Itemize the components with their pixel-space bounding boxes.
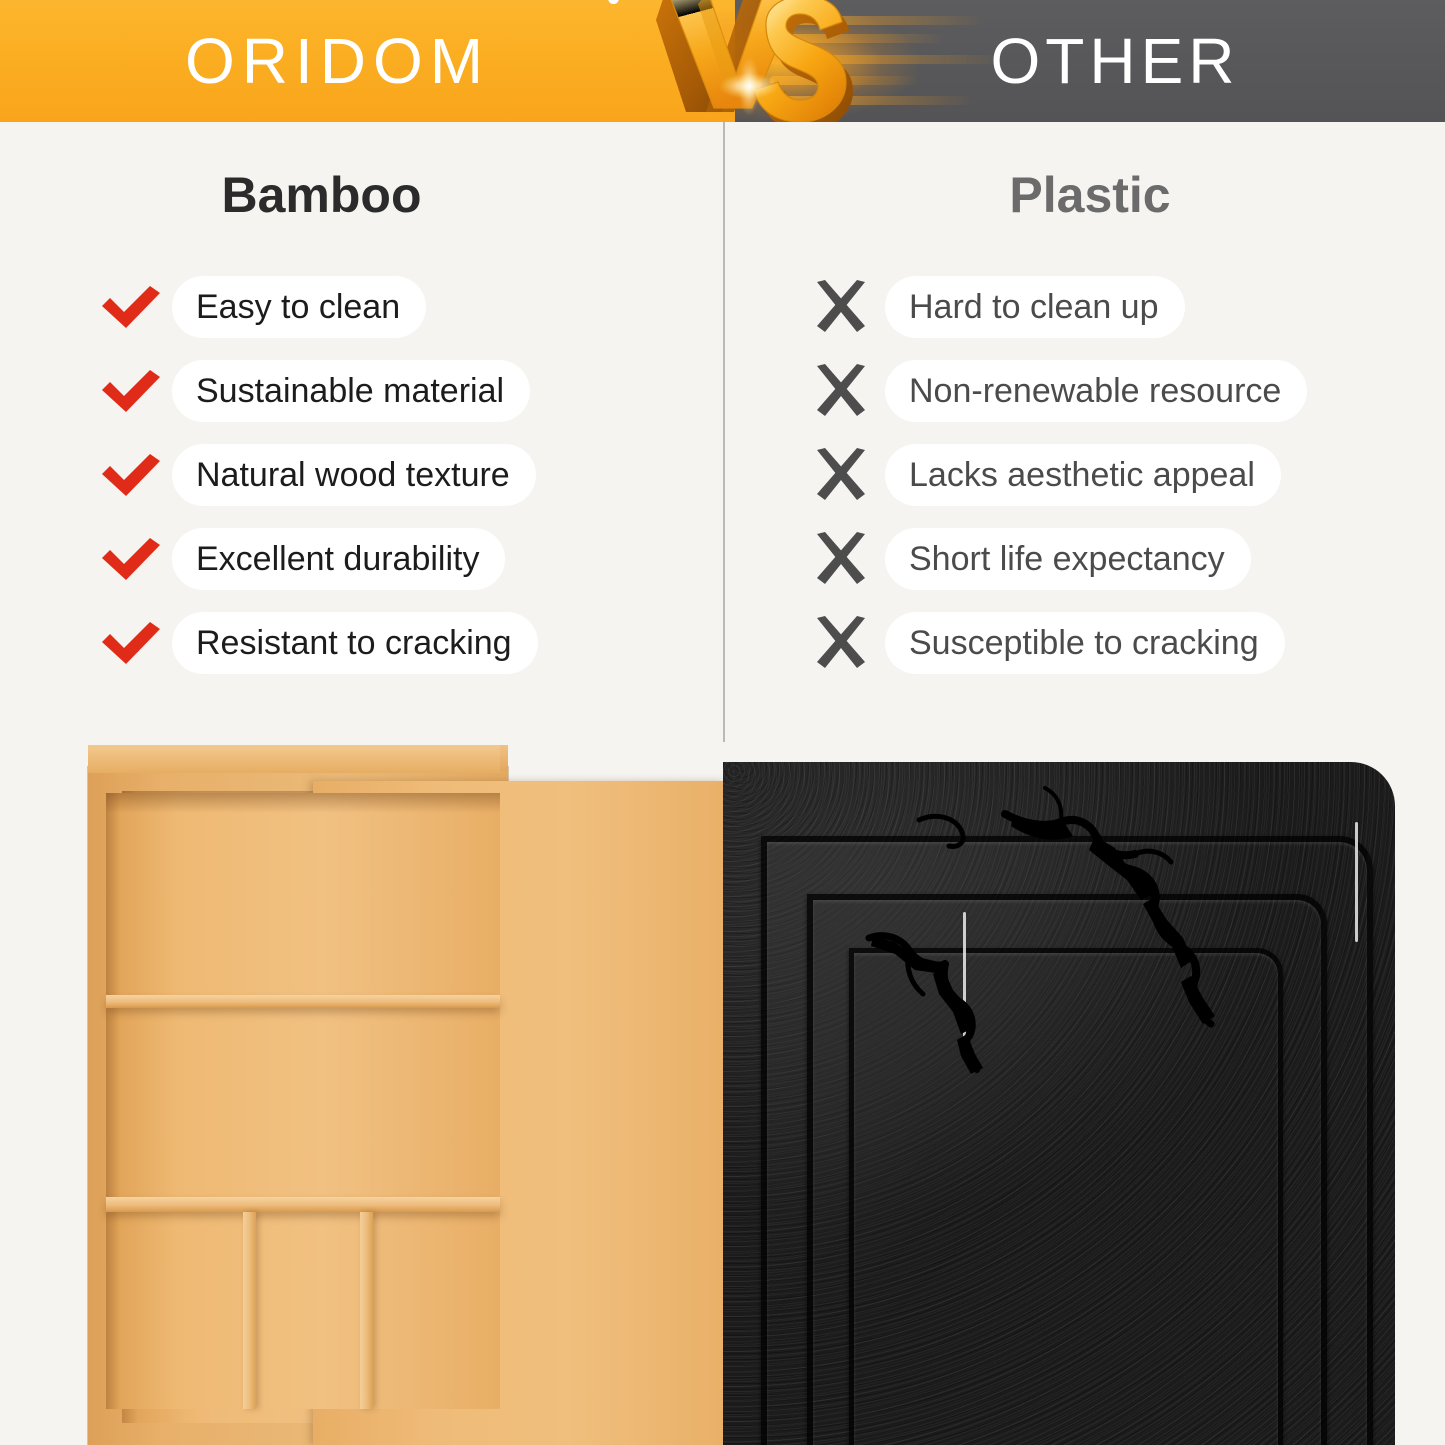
check-icon <box>100 620 172 666</box>
feature-row: Resistant to cracking <box>0 610 723 676</box>
feature-row: Non-renewable resource <box>725 358 1445 424</box>
check-icon <box>100 368 172 414</box>
header-banner: ORIDOM OTHER <box>0 0 1445 122</box>
column-bamboo: Bamboo Easy to clean <box>0 122 723 740</box>
plastic-rim-inner <box>849 948 1283 1445</box>
bamboo-divider-rail <box>106 1197 500 1212</box>
cross-icon <box>813 280 885 334</box>
brand-name-oridom: ORIDOM <box>0 0 705 122</box>
cross-icon <box>813 532 885 586</box>
feature-row: Hard to clean up <box>725 274 1445 340</box>
feature-row: Sustainable material <box>0 358 723 424</box>
bamboo-divider-rail <box>106 995 500 1008</box>
feature-pill: Resistant to cracking <box>172 612 538 674</box>
feature-row: Lacks aesthetic appeal <box>725 442 1445 508</box>
plastic-edge-highlight <box>963 912 966 1042</box>
bamboo-front-cavity <box>106 793 500 1409</box>
feature-list-plastic: Hard to clean up Non-renewable resource <box>725 274 1445 694</box>
check-icon <box>100 452 172 498</box>
bamboo-organizer-photo <box>88 745 723 1445</box>
feature-row: Natural wood texture <box>0 442 723 508</box>
bamboo-front-lip <box>88 745 500 773</box>
bamboo-cavity-left-shadow <box>106 793 120 1409</box>
feature-pill: Non-renewable resource <box>885 360 1307 422</box>
plastic-edge-highlight <box>1355 822 1358 942</box>
feature-row: Susceptible to cracking <box>725 610 1445 676</box>
cross-icon <box>813 616 885 670</box>
comparison-infographic: ORIDOM OTHER <box>0 0 1445 1445</box>
brand-right-text: OTHER <box>991 29 1240 93</box>
versus-badge <box>648 0 858 122</box>
column-title-plastic: Plastic <box>725 170 1445 220</box>
column-title-bamboo: Bamboo <box>0 170 723 220</box>
feature-pill: Short life expectancy <box>885 528 1251 590</box>
feature-pill: Susceptible to cracking <box>885 612 1285 674</box>
cross-icon <box>813 448 885 502</box>
column-plastic: Plastic Hard to clean up <box>725 122 1445 740</box>
brand-left-text: ORIDOM <box>185 29 490 93</box>
feature-pill: Natural wood texture <box>172 444 536 506</box>
product-photo-section <box>0 740 1445 1445</box>
brand-dot-accent <box>608 0 619 4</box>
column-divider <box>723 122 725 742</box>
feature-pill: Excellent durability <box>172 528 505 590</box>
bamboo-divider-rail <box>360 1212 373 1409</box>
cross-icon <box>813 364 885 418</box>
feature-pill: Easy to clean <box>172 276 426 338</box>
feature-list-bamboo: Easy to clean Sustainable material <box>0 274 723 694</box>
bamboo-cavity-top-shadow <box>106 793 500 813</box>
feature-row: Short life expectancy <box>725 526 1445 592</box>
feature-pill: Hard to clean up <box>885 276 1185 338</box>
plastic-tray-photo <box>723 762 1445 1445</box>
feature-pill: Lacks aesthetic appeal <box>885 444 1281 506</box>
feature-row: Easy to clean <box>0 274 723 340</box>
bamboo-divider-rail <box>243 1212 256 1409</box>
feature-row: Excellent durability <box>0 526 723 592</box>
check-icon <box>100 284 172 330</box>
feature-pill: Sustainable material <box>172 360 530 422</box>
check-icon <box>100 536 172 582</box>
